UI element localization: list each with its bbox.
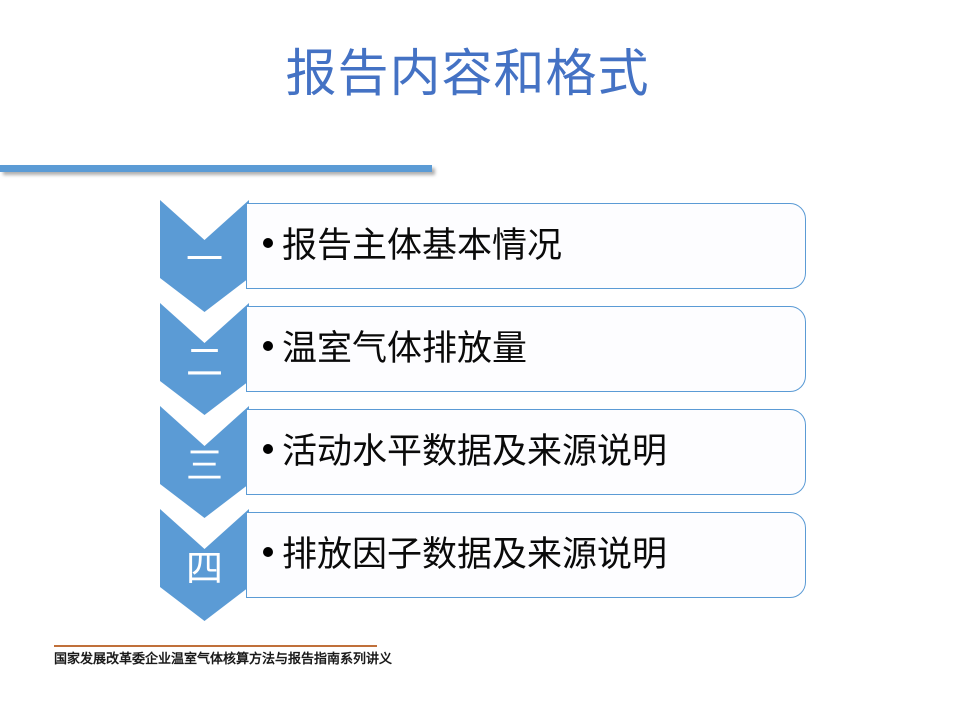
chevron-arrow-icon: 一 [160,200,249,312]
chevron-arrow-icon: 二 [160,303,249,415]
agenda-item-text-wrap: 排放因子数据及来源说明 [247,533,667,577]
agenda-item-label: 排放因子数据及来源说明 [282,535,667,574]
bullet-icon [263,238,273,248]
agenda-item-label: 温室气体排放量 [282,329,527,368]
slide-canvas: 报告内容和格式 一 报告主体基本情况 二 温室气体排 [0,0,960,720]
agenda-list: 一 报告主体基本情况 二 温室气体排放量 三 [0,0,960,720]
agenda-item-box[interactable]: 温室气体排放量 [246,306,806,392]
list-item[interactable]: 一 报告主体基本情况 [0,200,960,304]
list-item[interactable]: 四 排放因子数据及来源说明 [0,509,960,613]
footer: 国家发展改革委企业温室气体核算方法与报告指南系列讲义 [54,645,474,668]
agenda-item-box[interactable]: 排放因子数据及来源说明 [246,512,806,598]
bullet-icon [263,444,273,454]
chevron-arrow-icon: 四 [160,509,249,621]
agenda-item-text-wrap: 温室气体排放量 [247,327,527,371]
agenda-item-box[interactable]: 报告主体基本情况 [246,203,806,289]
chevron-arrow-icon: 三 [160,406,249,518]
footer-label: 国家发展改革委企业温室气体核算方法与报告指南系列讲义 [54,650,474,668]
agenda-item-label: 活动水平数据及来源说明 [282,432,667,471]
bullet-icon [263,547,273,557]
list-item[interactable]: 二 温室气体排放量 [0,303,960,407]
agenda-item-text-wrap: 活动水平数据及来源说明 [247,430,667,474]
agenda-item-label: 报告主体基本情况 [282,226,562,265]
list-item[interactable]: 三 活动水平数据及来源说明 [0,406,960,510]
agenda-item-box[interactable]: 活动水平数据及来源说明 [246,409,806,495]
agenda-item-text-wrap: 报告主体基本情况 [247,224,562,268]
bullet-icon [263,341,273,351]
footer-divider [54,645,377,647]
